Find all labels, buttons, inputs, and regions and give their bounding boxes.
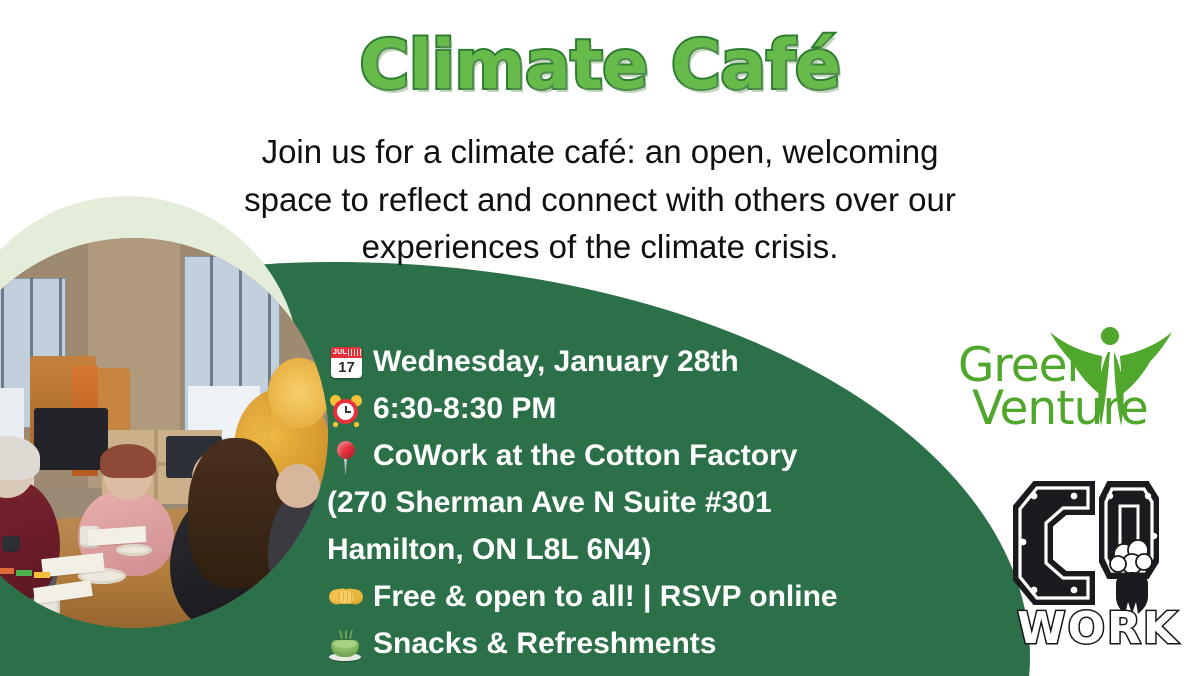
event-details-list: JUL 17 Wednesday, January 28th 6:30-8:30… xyxy=(327,344,927,673)
event-flyer: Climate Café Join us for a climate café:… xyxy=(0,0,1200,676)
pushpin-icon xyxy=(327,439,365,477)
detail-row-address-line2: Hamilton, ON L8L 6N4) xyxy=(327,532,927,572)
detail-row-admission: Free & open to all! | RSVP online xyxy=(327,579,927,619)
detail-venue-text: CoWork at the Cotton Factory xyxy=(373,438,797,471)
detail-row-refreshments: Snacks & Refreshments xyxy=(327,626,927,666)
cowork-wordmark: WORK xyxy=(1014,603,1182,654)
calendar-day-label: 17 xyxy=(331,358,362,378)
cowork-logo: WORK xyxy=(1008,476,1188,656)
detail-row-venue: CoWork at the Cotton Factory xyxy=(327,438,927,478)
cowork-co-mark-icon xyxy=(1008,476,1188,616)
green-venture-wordmark: Green Venture xyxy=(958,344,1188,430)
detail-time-text: 6:30-8:30 PM xyxy=(373,391,556,424)
detail-row-date: JUL 17 Wednesday, January 28th xyxy=(327,344,927,384)
detail-row-time: 6:30-8:30 PM xyxy=(327,391,927,431)
event-photo xyxy=(0,238,328,628)
detail-address-line1-text: (270 Sherman Ave N Suite #301 xyxy=(327,485,772,518)
detail-row-address-line1: (270 Sherman Ave N Suite #301 xyxy=(327,485,927,525)
alarm-clock-icon xyxy=(327,392,365,430)
handshake-icon xyxy=(327,580,365,618)
detail-address-line2-text: Hamilton, ON L8L 6N4) xyxy=(327,532,652,565)
detail-date-text: Wednesday, January 28th xyxy=(373,344,739,377)
green-venture-line2: Venture xyxy=(972,387,1188,430)
calendar-icon: JUL 17 xyxy=(327,345,365,383)
page-title: Climate Café xyxy=(0,26,1200,105)
detail-admission-text: Free & open to all! | RSVP online xyxy=(373,579,838,612)
detail-refreshments-text: Snacks & Refreshments xyxy=(373,626,716,659)
calendar-month-label: JUL xyxy=(331,347,362,358)
green-venture-logo: Green Venture xyxy=(958,322,1188,462)
photo-content xyxy=(0,238,328,628)
subtitle-text: Join us for a climate café: an open, wel… xyxy=(218,128,982,271)
teacup-icon xyxy=(327,627,365,665)
